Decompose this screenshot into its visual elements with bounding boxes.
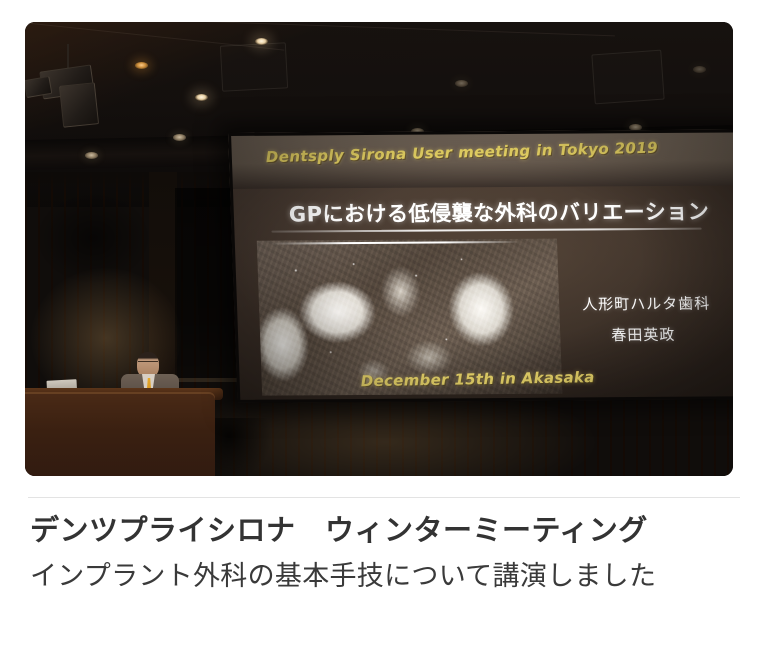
speaker-glasses-icon	[138, 361, 158, 366]
downlight-icon	[255, 38, 268, 45]
divider	[28, 497, 740, 498]
downlight-icon	[135, 62, 148, 69]
downlight-icon	[693, 66, 706, 73]
lecture-hall-photo[interactable]: Dentsply Sirona User meeting in Tokyo 20…	[25, 22, 733, 476]
downlight-icon	[173, 134, 186, 141]
article-card: Dentsply Sirona User meeting in Tokyo 20…	[0, 0, 757, 645]
projection-screen: Dentsply Sirona User meeting in Tokyo 20…	[228, 129, 733, 402]
ceiling-panel	[220, 42, 288, 91]
podium	[25, 392, 215, 476]
stage-light-icon	[59, 82, 99, 128]
page-title: デンツプライシロナ ウィンターミーティング	[30, 513, 740, 548]
ceiling-panel	[591, 50, 664, 105]
screen-frame	[228, 129, 733, 402]
photo-scene: Dentsply Sirona User meeting in Tokyo 20…	[25, 22, 733, 476]
downlight-icon	[195, 94, 208, 101]
page-subtitle: インプラント外科の基本手技について講演しました	[30, 560, 750, 594]
stage-light-arm	[67, 44, 69, 70]
downlight-icon	[85, 152, 98, 159]
ceiling-seam	[195, 22, 615, 36]
downlight-icon	[455, 80, 468, 87]
